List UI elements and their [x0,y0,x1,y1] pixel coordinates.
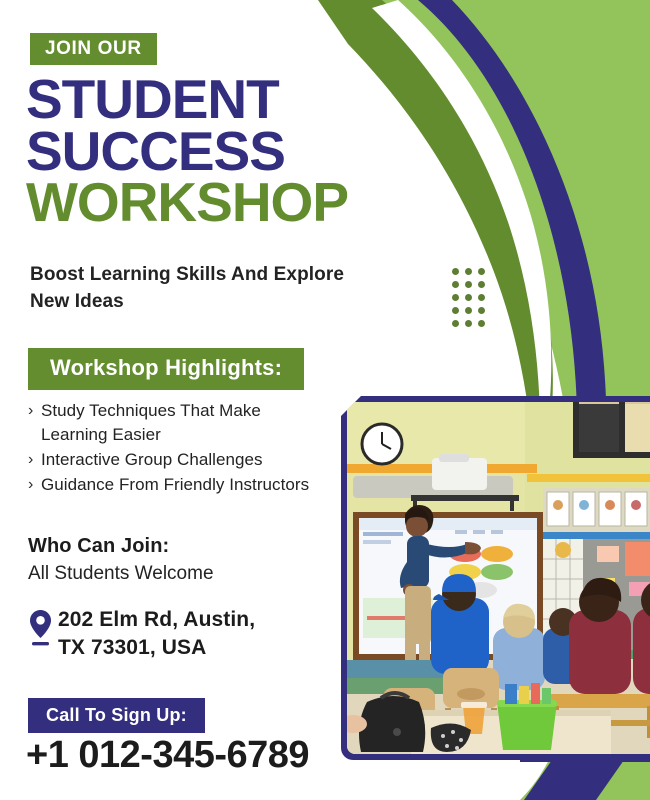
dot [465,268,472,275]
workshop-highlights-label: Workshop Highlights: [50,355,282,380]
dot-grid-decoration [452,268,485,327]
audience-section: Who Can Join: All Students Welcome [28,533,328,587]
location-line-2: TX 73301, USA [58,636,206,659]
classroom-photo-illustration: Teacher pointing at an interactive white… [347,402,650,754]
dot [478,307,485,314]
list-item-label: Interactive Group Challenges [41,448,263,472]
purple-angle-accent [524,760,650,800]
chevron-right-icon: › [28,399,41,423]
title-line-3: WORKSHOP [26,177,426,229]
list-item-label: Study Techniques That Make Learning Easi… [41,399,328,447]
dot [465,307,472,314]
join-our-label: JOIN OUR [45,38,142,59]
dot [465,281,472,288]
subheading: Boost Learning Skills And Explore New Id… [30,262,380,316]
title-line-1: STUDENT [26,74,426,126]
location-line-1: 202 Elm Rd, Austin, [58,608,255,631]
dot [452,268,459,275]
page-title: STUDENT SUCCESS WORKSHOP [26,74,426,229]
dot [452,294,459,301]
phone-number: +1 012-345-6789 [26,736,309,774]
dot [478,294,485,301]
map-pin-icon [28,609,58,652]
chevron-right-icon: › [28,448,41,472]
join-our-badge: JOIN OUR [30,33,157,65]
list-item: › Interactive Group Challenges [28,448,328,472]
dot [452,307,459,314]
audience-value: All Students Welcome [28,561,328,587]
call-to-sign-up-badge: Call To Sign Up: [28,698,205,733]
classroom-photo: Teacher pointing at an interactive white… [347,402,650,754]
workshop-highlights-badge: Workshop Highlights: [28,348,304,390]
classroom-photo-frame: Teacher pointing at an interactive white… [341,396,650,760]
dot [478,268,485,275]
title-line-2: SUCCESS [26,126,426,178]
dot [465,320,472,327]
dot [452,320,459,327]
poster-canvas: JOIN OUR STUDENT SUCCESS WORKSHOP Boost … [0,0,650,800]
green-angle-accent [596,760,650,800]
dot [478,281,485,288]
dot [465,294,472,301]
location-address: 202 Elm Rd, Austin, TX 73301, USA [58,606,255,661]
audience-title: Who Can Join: [28,533,328,559]
chevron-right-icon: › [28,473,41,497]
highlights-list: › Study Techniques That Make Learning Ea… [28,399,328,498]
list-item: › Guidance From Friendly Instructors [28,473,328,497]
call-to-sign-up-label: Call To Sign Up: [46,705,187,725]
list-item-label: Guidance From Friendly Instructors [41,473,309,497]
dot [478,320,485,327]
location-section: 202 Elm Rd, Austin, TX 73301, USA [28,606,255,661]
dot [452,281,459,288]
list-item: › Study Techniques That Make Learning Ea… [28,399,328,447]
